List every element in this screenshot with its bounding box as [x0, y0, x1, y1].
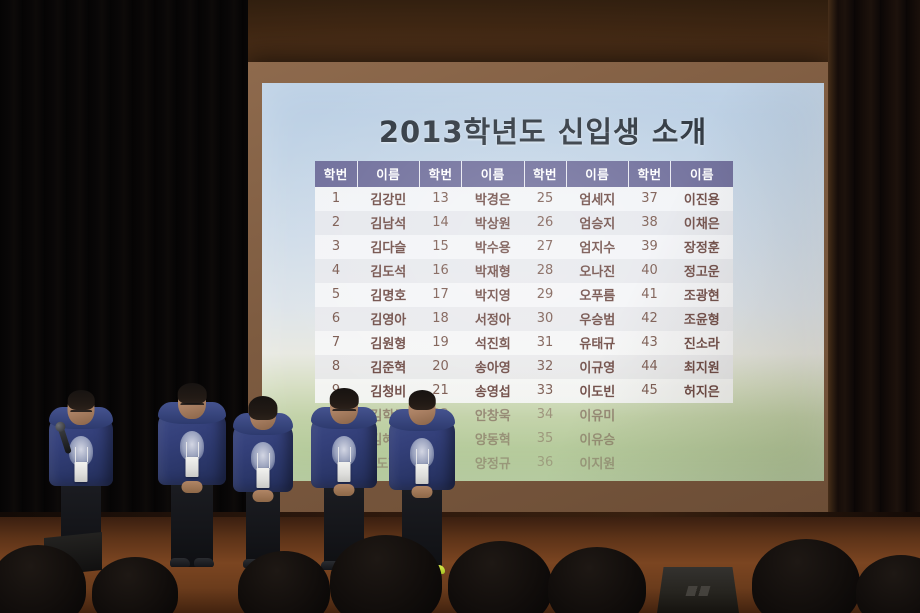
roster-name-cell: 안창욱 [462, 403, 524, 427]
table-row: 8김준혁20송아영32이규영44최지원 [315, 355, 733, 379]
roster-name-cell: 양정규 [462, 451, 524, 475]
roster-name-cell: 박상원 [462, 211, 524, 235]
roster-id-cell: 29 [524, 283, 566, 307]
name-badge [257, 468, 270, 488]
hair [67, 390, 95, 410]
name-badge [186, 457, 199, 477]
shoe [194, 558, 214, 567]
roster-header-cell: 학번 [524, 161, 566, 187]
roster-name-cell: 이지원 [566, 451, 628, 475]
roster-name-cell: 박지영 [462, 283, 524, 307]
roster-id-cell: 4 [315, 259, 357, 283]
roster-id-cell: 44 [629, 355, 671, 379]
roster-name-cell [671, 451, 733, 475]
roster-header-cell: 학번 [315, 161, 357, 187]
roster-id-cell: 8 [315, 355, 357, 379]
hands [182, 481, 203, 493]
table-row: 1김강민13박경은25엄세지37이진용 [315, 187, 733, 211]
roster-id-cell: 37 [629, 187, 671, 211]
table-row: 6김영아18서정아30우승범42조윤형 [315, 307, 733, 331]
roster-id-cell: 1 [315, 187, 357, 211]
photo-scene: 2013학년도 신입생 소개 학번 이름 학번 이름 학번 이름 학번 이름 1… [0, 0, 920, 613]
glasses [180, 403, 204, 410]
roster-name-cell [671, 403, 733, 427]
roster-id-cell: 34 [524, 403, 566, 427]
roster-name-cell: 서정아 [462, 307, 524, 331]
roster-id-cell: 27 [524, 235, 566, 259]
roster-id-cell: 19 [420, 331, 462, 355]
roster-name-cell: 엄세지 [566, 187, 628, 211]
roster-id-cell: 28 [524, 259, 566, 283]
roster-name-cell: 이유승 [566, 427, 628, 451]
hair [408, 390, 436, 410]
roster-name-cell: 조광현 [671, 283, 733, 307]
roster-name-cell: 김다슬 [357, 235, 419, 259]
table-row: 4김도석16박재형28오나진40정고운 [315, 259, 733, 283]
table-row: 2김남석14박상원26엄승지38이채은 [315, 211, 733, 235]
roster-id-cell: 38 [629, 211, 671, 235]
roster-id-cell: 17 [420, 283, 462, 307]
head [409, 392, 436, 425]
roster-id-cell: 16 [420, 259, 462, 283]
head [68, 392, 95, 425]
roster-name-cell: 우승범 [566, 307, 628, 331]
roster-header-cell: 학번 [420, 161, 462, 187]
student-2 [152, 385, 232, 567]
roster-name-cell: 양동혁 [462, 427, 524, 451]
head [178, 385, 206, 419]
hoodie [158, 409, 226, 485]
roster-name-cell: 조윤형 [671, 307, 733, 331]
roster-name-cell: 엄지수 [566, 235, 628, 259]
slide-title: 2013학년도 신입생 소개 [262, 109, 824, 151]
roster-name-cell: 이도빈 [566, 379, 628, 403]
roster-id-cell [629, 451, 671, 475]
roster-header-cell: 이름 [566, 161, 628, 187]
hair [330, 388, 359, 409]
stage-monitor-speaker [657, 567, 739, 613]
roster-id-cell: 6 [315, 307, 357, 331]
roster-name-cell: 진소라 [671, 331, 733, 355]
roster-name-cell: 이채은 [671, 211, 733, 235]
roster-name-cell: 박수용 [462, 235, 524, 259]
roster-id-cell: 35 [524, 427, 566, 451]
roster-id-cell: 15 [420, 235, 462, 259]
roster-id-cell: 3 [315, 235, 357, 259]
roster-name-cell: 김남석 [357, 211, 419, 235]
roster-id-cell: 5 [315, 283, 357, 307]
roster-header-cell: 이름 [671, 161, 733, 187]
roster-name-cell: 장정훈 [671, 235, 733, 259]
table-row: 7김원형19석진희31유태규43진소라 [315, 331, 733, 355]
roster-id-cell: 39 [629, 235, 671, 259]
roster-name-cell: 김준혁 [357, 355, 419, 379]
roster-header-cell: 이름 [462, 161, 524, 187]
roster-name-cell: 허지은 [671, 379, 733, 403]
roster-name-cell: 엄승지 [566, 211, 628, 235]
glasses [70, 410, 93, 417]
roster-header-cell: 학번 [629, 161, 671, 187]
roster-name-cell: 김명호 [357, 283, 419, 307]
roster-id-cell: 31 [524, 331, 566, 355]
roster-id-cell: 26 [524, 211, 566, 235]
hands [412, 486, 433, 498]
roster-id-cell: 45 [629, 379, 671, 403]
head [330, 390, 358, 424]
name-badge [75, 462, 88, 482]
roster-name-cell: 이유미 [566, 403, 628, 427]
roster-name-cell: 이규영 [566, 355, 628, 379]
shoe [170, 558, 190, 567]
roster-id-cell: 2 [315, 211, 357, 235]
roster-name-cell: 김영아 [357, 307, 419, 331]
roster-name-cell: 정고운 [671, 259, 733, 283]
roster-name-cell: 이진용 [671, 187, 733, 211]
table-row: 5김명호17박지영29오푸름41조광현 [315, 283, 733, 307]
roster-id-cell: 36 [524, 451, 566, 475]
roster-id-cell: 14 [420, 211, 462, 235]
roster-name-cell: 박경은 [462, 187, 524, 211]
roster-name-cell: 송아영 [462, 355, 524, 379]
glasses [332, 409, 356, 416]
roster-header-row: 학번 이름 학번 이름 학번 이름 학번 이름 [315, 161, 733, 187]
roster-header-cell: 이름 [357, 161, 419, 187]
table-row: 3김다슬15박수용27엄지수39장정훈 [315, 235, 733, 259]
hoodie [233, 420, 293, 492]
student-3 [227, 398, 299, 568]
roster-id-cell: 25 [524, 187, 566, 211]
hoodie [389, 416, 455, 490]
roster-id-cell: 43 [629, 331, 671, 355]
roster-id-cell: 7 [315, 331, 357, 355]
roster-name-cell: 유태규 [566, 331, 628, 355]
hair [178, 383, 207, 404]
roster-id-cell: 18 [420, 307, 462, 331]
roster-name-cell: 박재형 [462, 259, 524, 283]
roster-name-cell: 김도석 [357, 259, 419, 283]
roster-name-cell: 송영섭 [462, 379, 524, 403]
hair [248, 396, 277, 420]
head [250, 398, 276, 430]
roster-name-cell: 오나진 [566, 259, 628, 283]
hoodie [311, 414, 377, 488]
roster-name-cell: 최지원 [671, 355, 733, 379]
roster-id-cell: 40 [629, 259, 671, 283]
roster-id-cell: 13 [420, 187, 462, 211]
roster-id-cell: 42 [629, 307, 671, 331]
name-badge [416, 464, 429, 484]
roster-name-cell [671, 427, 733, 451]
roster-id-cell: 30 [524, 307, 566, 331]
hands [253, 490, 274, 502]
roster-id-cell: 33 [524, 379, 566, 403]
roster-name-cell: 오푸름 [566, 283, 628, 307]
roster-id-cell [629, 403, 671, 427]
roster-name-cell: 김원형 [357, 331, 419, 355]
hands [334, 484, 355, 496]
name-badge [338, 462, 351, 482]
roster-name-cell: 석진희 [462, 331, 524, 355]
roster-name-cell: 김강민 [357, 187, 419, 211]
roster-id-cell [629, 427, 671, 451]
roster-id-cell: 20 [420, 355, 462, 379]
roster-id-cell: 41 [629, 283, 671, 307]
roster-id-cell: 32 [524, 355, 566, 379]
